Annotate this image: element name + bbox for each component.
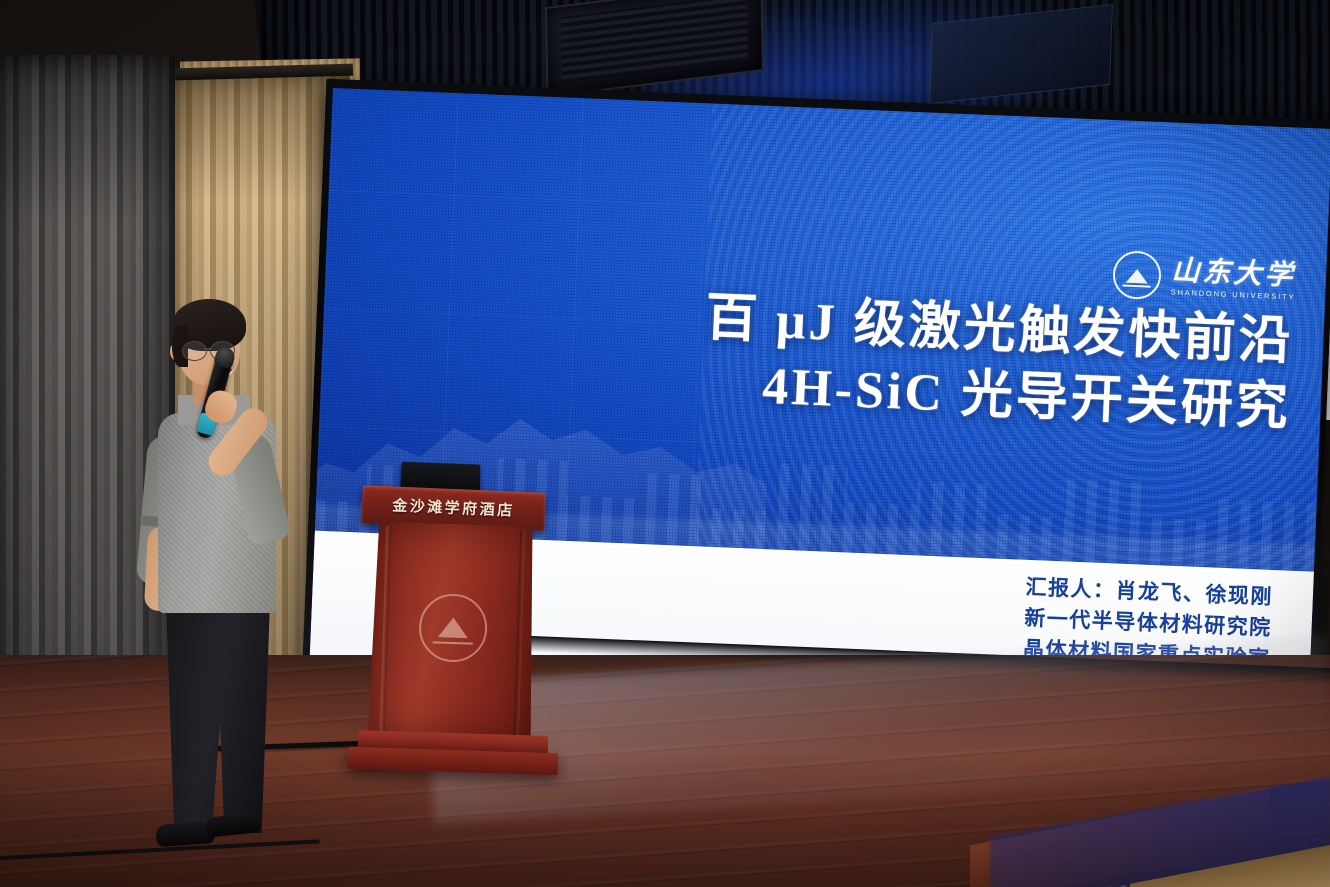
eyeglass-bridge <box>204 348 211 350</box>
presentation-photo: 山东大学 SHANDONG UNIVERSITY 百 μJ 级激光触发快前沿 4… <box>0 0 1330 887</box>
university-logo-text: 山东大学 SHANDONG UNIVERSITY <box>1171 257 1297 301</box>
speaker-shoe-right <box>205 812 261 838</box>
speaker <box>120 295 335 875</box>
podium-label: 金沙滩学府酒店 <box>362 493 546 522</box>
shandong-university-emblem-icon <box>1112 250 1162 300</box>
university-name-cn: 山东大学 <box>1171 257 1297 290</box>
floor-reflection-text: 前沿 <box>1048 878 1135 887</box>
speaker-legs <box>166 603 270 833</box>
podium-body <box>368 521 538 741</box>
eyeglass-lens-left <box>182 341 207 361</box>
university-logo: 山东大学 SHANDONG UNIVERSITY <box>1112 250 1296 305</box>
shandong-university-emblem-icon <box>418 593 488 663</box>
